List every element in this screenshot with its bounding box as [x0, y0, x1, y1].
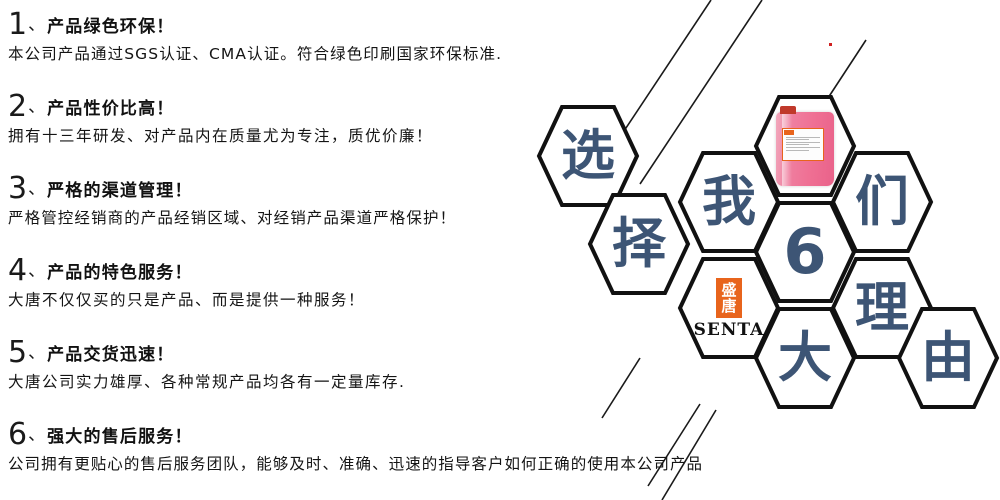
hex-glyph: 6 [783, 221, 826, 283]
label-line [786, 144, 809, 145]
label-line [786, 150, 809, 151]
hex-glyph: 由 [921, 331, 975, 385]
label-orange-bar [784, 130, 794, 135]
honeycomb-cluster: 选 择 我 盛 唐 SENTA [0, 0, 1000, 500]
promo-banner: 1 、 产品绿色环保！ 本公司产品通过SGS认证、CMA认证。符合绿色印刷国家环… [0, 0, 1000, 500]
hex-glyph: 我 [702, 175, 756, 229]
hex-cell-you: 由 [896, 306, 1000, 410]
jerrycan-cap-icon [780, 106, 796, 114]
hex-glyph: 理 [855, 281, 909, 335]
hex-cell-ze: 择 [587, 192, 691, 296]
label-line [786, 137, 820, 138]
label-line [786, 142, 820, 143]
label-line [786, 139, 809, 140]
hex-glyph: 大 [778, 331, 832, 385]
hex-glyph: 们 [855, 175, 909, 229]
brand-latin-name: SENTA [694, 321, 765, 339]
brand-mark-char-top: 盛 [721, 282, 736, 298]
brand-mark-char-bottom: 唐 [721, 298, 736, 314]
brand-logo: 盛 唐 SENTA [694, 278, 765, 339]
label-line [786, 147, 820, 148]
product-label [782, 128, 824, 161]
brand-mark-icon: 盛 唐 [716, 278, 742, 318]
hex-cell-men: 们 [830, 150, 934, 254]
hex-glyph: 选 [561, 129, 615, 183]
hex-glyph: 择 [612, 217, 666, 271]
product-photo [772, 104, 838, 188]
